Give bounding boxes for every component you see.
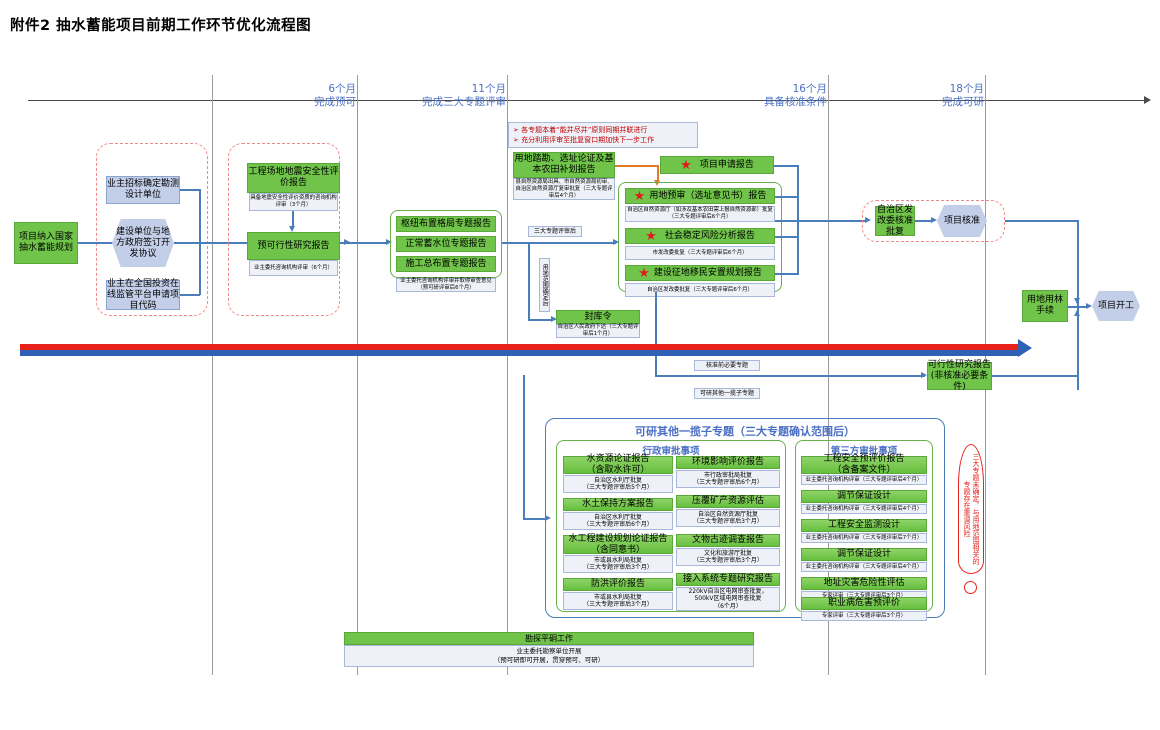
other-bundle-label: 可研其他一揽子专题 (694, 388, 760, 399)
milestone-2-months: 11个月 (386, 83, 506, 96)
agreement-node: 建设单位与地方政府签订开发协议 (112, 219, 174, 267)
third-party-item-4-title: 调节保证设计 (801, 548, 927, 561)
connector-start-to-agreement (78, 242, 114, 244)
owner-bid-box: 业主招标确定勘测设计单位 (106, 176, 180, 204)
admin-left-item-2-title: 水土保持方案报告 (563, 498, 673, 511)
arrow-head-icon (931, 217, 937, 223)
topic-report-2: 正常蓄水位专题报告 (396, 236, 496, 252)
seal-order-sub: 自治区人民政府下达（三大专题评审后1个月） (556, 324, 640, 338)
social-risk-box: ★ 社会稳定风险分析报告 (625, 228, 775, 244)
third-party-item-2-sub: 业主委托咨询机构评审（三大专题评审后4个月） (801, 504, 927, 514)
resettlement-sub: 自治区发改委批复（三大专题评审后6个月） (625, 283, 775, 297)
stage3-sub: 业主委托咨询机构评审并取得审查意见（预可研评审后6个月） (396, 278, 496, 292)
milestone-4-months: 18个月 (900, 83, 984, 96)
connector-feasibility-right (992, 375, 1078, 377)
note-line-1: ➢ 各专题本着“能并尽并”原则同期并联进行 (513, 125, 693, 135)
after-review-label: 三大专题评审后 (528, 226, 582, 237)
risk-exclamation-shape: 三大专题未确定，与用地范围相关的专题存在重调风险 (958, 444, 984, 574)
bundle-header: 可研其他一揽子专题（三大专题确认范围后） (555, 423, 935, 439)
note-box: ➢ 各专题本着“能并尽并”原则同期并联进行 ➢ 充分利用评审至批复窗口期加快下一… (508, 122, 698, 148)
connector-to-seal (528, 319, 552, 321)
resettlement-label: 建设征地移民安置规划报告 (654, 268, 762, 279)
third-party-item-5-title: 地址灾害危险性评估 (801, 577, 927, 590)
milestone-4: 18个月 完成可研 (900, 83, 984, 109)
land-preapproval-sub: 自治区自然资源厅（如涉及基本农田需上报自然资源部）批复（三大专题评审后6个月） (625, 206, 775, 222)
timeline-divider-2 (357, 75, 358, 675)
star-icon: ★ (645, 230, 657, 243)
topic-report-3: 施工总布置专题报告 (396, 256, 496, 272)
connector-item3-right (775, 273, 798, 275)
land-survey-sub: 县自然资源局出具、市自然资源局初审、自治区自然资源厅复审批复（三大专题评审后4个… (513, 178, 615, 200)
land-scope-label: 用地范围确定后 (539, 258, 550, 312)
social-risk-label: 社会稳定风险分析报告 (665, 231, 755, 242)
start-node: 项目纳入国家抽水蓄能规划 (14, 222, 78, 264)
required-topic-label: 核准前必要专题 (694, 360, 760, 371)
land-forest-box: 用地用林手续 (1022, 290, 1068, 322)
third-party-item-6-sub: 专家评审（三大专题评审后3个月） (801, 611, 927, 621)
milestone-3: 16个月 具备核准条件 (728, 83, 827, 109)
admin-left-item-3-title: 水工程建设规划论证报告 （含同意书） (563, 535, 673, 554)
project-code-box: 业主在全国投资在线监管平台申请项目代码 (106, 280, 180, 310)
main-timeline-arrow-icon (1018, 339, 1032, 357)
connector-code-right (180, 294, 200, 296)
page-title: 附件2 抽水蓄能项目前期工作环节优化流程图 (10, 14, 311, 35)
timeline-arrow-icon (1144, 96, 1151, 104)
admin-right-item-3-title: 文物古迹调查报告 (676, 534, 780, 547)
connector-item1-right (775, 196, 798, 198)
prefeasibility-report-box: 预可行性研究报告 (247, 232, 340, 260)
arrow-head-icon (1074, 298, 1080, 304)
risk-exclamation-dot (964, 581, 977, 594)
connector-approval-down (1077, 220, 1079, 390)
admin-left-item-4-sub: 市或县水利局批复 （三大专题评审后3个月） (563, 592, 673, 610)
connector-item2-right (775, 236, 798, 238)
seismic-report-box: 工程场地地震安全性评价报告 (247, 163, 340, 193)
third-party-item-3-title: 工程安全监测设计 (801, 519, 927, 532)
land-preapproval-box: ★ 用地预审（选址意见书）报告 (625, 188, 775, 204)
third-party-item-6-title: 职业病危害预评价 (801, 597, 927, 610)
milestone-2-label: 完成三大专题评审 (386, 96, 506, 109)
milestone-2: 11个月 完成三大专题评审 (386, 83, 506, 109)
connector-stage3-down (528, 242, 530, 320)
connector-bid-right (180, 189, 200, 191)
connector-landsurvey-right (615, 165, 659, 167)
star-icon: ★ (638, 267, 650, 280)
connector-stage2-to-stage3 (340, 242, 388, 244)
arrow-head-icon (545, 515, 551, 521)
risk-note-text: 三大专题未确定，与用地范围相关的专题存在重调风险 (962, 450, 980, 568)
admin-right-item-1-sub: 市行政审批局批复 （三大专题评审后6个月） (676, 470, 780, 488)
project-approval-node: 项目核准 (937, 205, 987, 237)
connector-stage4-to-approval (775, 220, 867, 222)
star-icon: ★ (634, 190, 646, 203)
arrow-head-icon (1086, 303, 1092, 309)
milestone-1: 6个月 完成预可 (280, 83, 356, 109)
third-party-item-1-title: 工程安全预评价报告 （含备案文件） (801, 456, 927, 474)
feasibility-report-title: 可行性研究报告 (928, 360, 991, 371)
admin-left-item-1-sub: 自治区水利厅批复 （三大专题评审后5个月） (563, 475, 673, 493)
survey-bar-sub: 业主委托勘察单位开展 （预可研即可开展，贯穿预可、可研） (344, 645, 754, 667)
third-party-item-2-title: 调节保证设计 (801, 490, 927, 503)
admin-left-item-2-sub: 自治区水利厅批复 （三大专题评审后6个月） (563, 512, 673, 530)
third-party-item-4-sub: 业主委托咨询机构评审（三大专题评审后4个月） (801, 562, 927, 572)
connector-landforest-right (1068, 306, 1088, 308)
connector-stage3-right (502, 242, 529, 244)
admin-left-item-3-sub: 市或县水利局批复 （三大专题评审后3个月） (563, 555, 673, 573)
third-party-item-3-sub: 业主委托咨询机构评审（三大专题评审后7个月） (801, 533, 927, 543)
arrow-head-icon (1074, 310, 1080, 316)
arrow-head-icon (613, 239, 619, 245)
connector-approval-right (1005, 220, 1078, 222)
application-report-box: ★ 项目申请报告 (660, 156, 774, 174)
survey-bar-title: 勘探平硐工作 (344, 632, 754, 645)
project-start-node: 项目开工 (1092, 291, 1140, 321)
admin-left-item-4-title: 防洪评价报告 (563, 578, 673, 591)
land-survey-box: 用地踏勘、选址论证及基本农田补划报告 (513, 152, 615, 178)
social-risk-sub: 市发改委批复（三大专题评审后6个月） (625, 246, 775, 260)
application-report-label: 项目申请报告 (700, 160, 754, 171)
milestone-1-label: 完成预可 (280, 96, 356, 109)
milestone-4-label: 完成可研 (900, 96, 984, 109)
topic-report-1: 枢纽布置格局专题报告 (396, 216, 496, 232)
land-preapproval-label: 用地预审（选址意见书）报告 (649, 191, 766, 202)
admin-right-item-2-title: 压覆矿产资源评估 (676, 495, 780, 508)
admin-right-item-1-title: 环境影响评价报告 (676, 456, 780, 469)
note-line-2: ➢ 充分利用评审至批复窗口期加快下一步工作 (513, 135, 693, 145)
admin-right-item-4-title: 接入系统专题研究报告 (676, 573, 780, 586)
milestone-1-months: 6个月 (280, 83, 356, 96)
connector-into-bundle (523, 518, 547, 520)
admin-right-item-2-sub: 自治区自然资源厅批复 （三大专题评审后3个月） (676, 509, 780, 527)
connector-into-stage4 (528, 242, 616, 244)
connector-bundle-left-down (523, 375, 525, 520)
resettlement-box: ★ 建设征地移民安置规划报告 (625, 265, 775, 281)
milestone-3-label: 具备核准条件 (728, 96, 827, 109)
milestone-3-months: 16个月 (728, 83, 827, 96)
main-timeline-blue (20, 350, 1020, 356)
star-icon: ★ (680, 159, 692, 172)
ndrc-approval-box: 自治区发改委核准批复 (875, 206, 915, 236)
third-party-item-1-sub: 业主委托咨询机构评审（三大专题评审后4个月） (801, 475, 927, 485)
connector-to-feasibility (655, 375, 925, 377)
seal-order-box: 封库令 (556, 310, 640, 324)
admin-left-item-1-title: 水资源论证报告 （含取水许可） (563, 456, 673, 474)
admin-right-item-3-sub: 文化和旅游厅批复 （三大专题评审后3个月） (676, 548, 780, 566)
connector-app-right (774, 165, 798, 167)
connector-stage4-down-to-rail (655, 292, 657, 376)
prefeasibility-report-sub: 业主委托咨询机构评审（6个月） (249, 260, 338, 276)
admin-right-item-4-sub: 220kV自治区电网审查批复， 500kV区域电网审查批复 （6个月） (676, 587, 780, 611)
seismic-report-sub: 具备地震安全性评价资质的咨询机构评审（3个月） (249, 193, 338, 211)
timeline-divider-1 (212, 75, 213, 675)
feasibility-report-box: 可行性研究报告 (非核准必要条件) (927, 362, 992, 390)
feasibility-report-sub: (非核准必要条件) (928, 371, 991, 393)
timeline-divider-3 (507, 75, 508, 675)
